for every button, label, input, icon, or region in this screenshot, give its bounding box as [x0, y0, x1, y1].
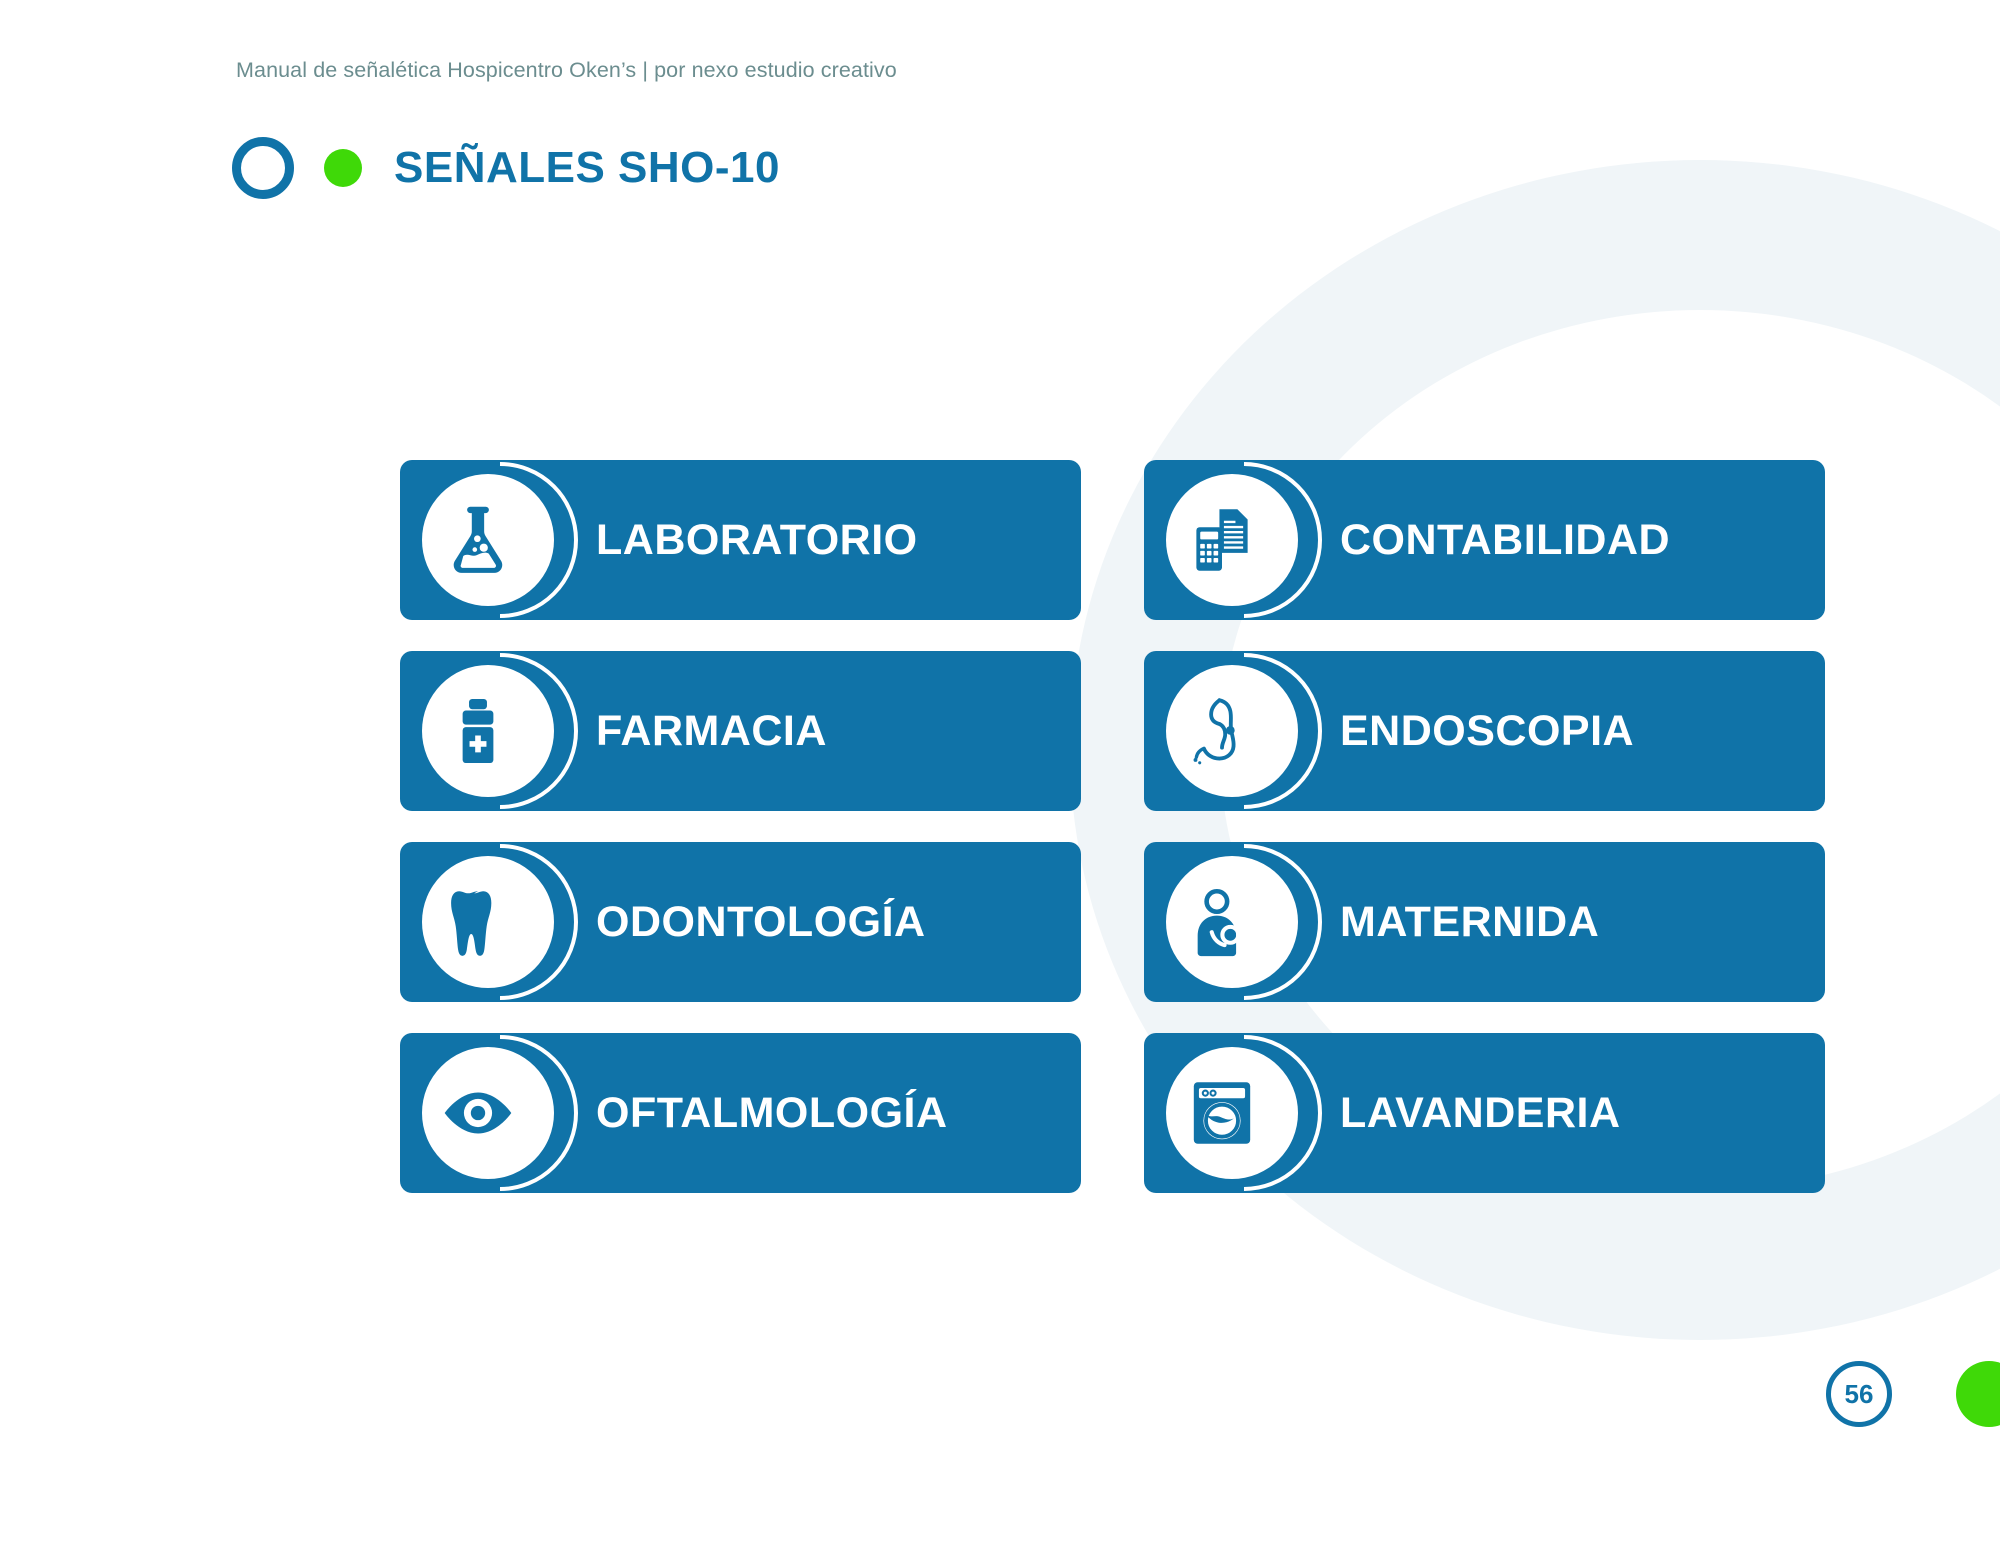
stomach-endoscope-icon — [1181, 690, 1263, 772]
sign-badge — [1144, 460, 1304, 620]
flask-icon — [437, 499, 519, 581]
sign-label: CONTABILIDAD — [1340, 516, 1670, 565]
sign-card-contabilidad[interactable]: CONTABILIDAD — [1144, 460, 1825, 620]
sign-card-lavanderia[interactable]: LAVANDERIA — [1144, 1033, 1825, 1193]
sign-label: LABORATORIO — [596, 516, 918, 565]
sign-card-laboratorio[interactable]: LABORATORIO — [400, 460, 1081, 620]
sign-badge — [1144, 842, 1304, 1002]
footer-green-dot-icon — [1956, 1361, 2000, 1427]
sign-label: MATERNIDA — [1340, 898, 1599, 947]
sign-label: LAVANDERIA — [1340, 1089, 1621, 1138]
sign-badge — [400, 651, 560, 811]
sign-card-endoscopia[interactable]: ENDOSCOPIA — [1144, 651, 1825, 811]
washing-machine-icon — [1181, 1072, 1263, 1154]
eye-icon — [437, 1072, 519, 1154]
sign-badge — [1144, 1033, 1304, 1193]
sign-card-odontologia[interactable]: ODONTOLOGÍA — [400, 842, 1081, 1002]
sign-label: FARMACIA — [596, 707, 827, 756]
sign-card-oftalmologia[interactable]: OFTALMOLOGÍA — [400, 1033, 1081, 1193]
sign-label: ODONTOLOGÍA — [596, 898, 926, 947]
sign-card-maternida[interactable]: MATERNIDA — [1144, 842, 1825, 1002]
page-root: Manual de señalética Hospicentro Oken’s … — [0, 0, 2000, 1545]
page-title-row: SEÑALES SHO-10 — [232, 137, 780, 199]
ring-circle-icon — [232, 137, 294, 199]
manual-header-note: Manual de señalética Hospicentro Oken’s … — [236, 58, 897, 83]
page-title: SEÑALES SHO-10 — [394, 143, 780, 193]
sign-badge — [1144, 651, 1304, 811]
medicine-bottle-icon — [437, 690, 519, 772]
sign-badge — [400, 460, 560, 620]
tooth-icon — [437, 881, 519, 963]
sign-badge — [400, 842, 560, 1002]
sign-badge — [400, 1033, 560, 1193]
mother-baby-icon — [1181, 881, 1263, 963]
sign-label: OFTALMOLOGÍA — [596, 1089, 948, 1138]
sign-card-farmacia[interactable]: FARMACIA — [400, 651, 1081, 811]
sign-grid: LABORATORIO — [400, 460, 1825, 1193]
sign-label: ENDOSCOPIA — [1340, 707, 1634, 756]
calculator-document-icon — [1181, 499, 1263, 581]
green-dot-icon — [324, 149, 362, 187]
page-number-badge: 56 — [1826, 1361, 1892, 1427]
